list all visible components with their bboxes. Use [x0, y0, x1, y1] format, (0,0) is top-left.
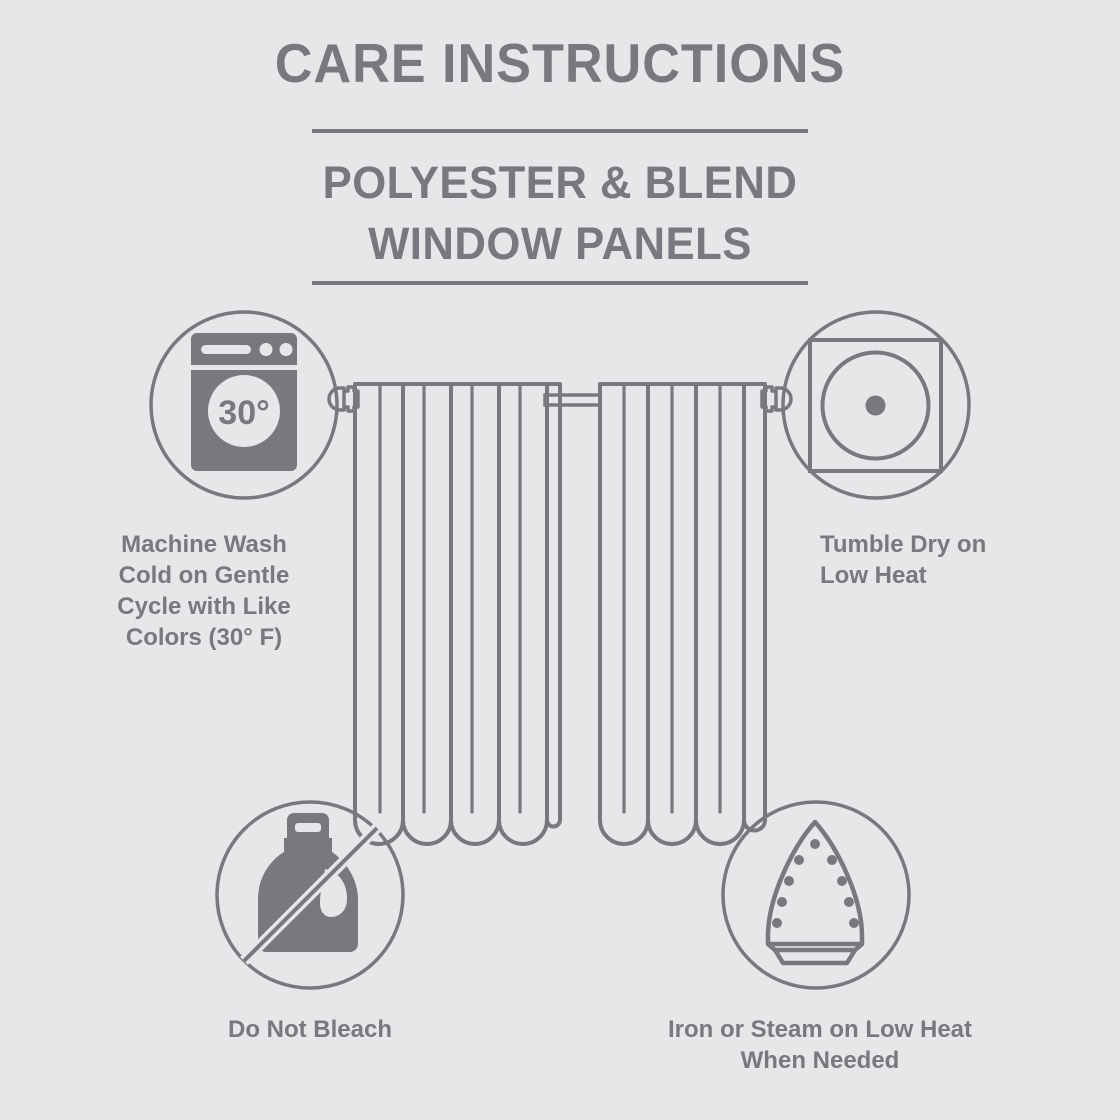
symbol-iron — [723, 802, 909, 988]
symbol-do-not-bleach — [217, 802, 403, 988]
badge-ring-iron — [723, 802, 909, 988]
caption-do-not-bleach: Do Not Bleach — [190, 1014, 430, 1045]
caption-machine-wash: Machine Wash Cold on Gentle Cycle with L… — [96, 529, 312, 653]
rod-bar — [545, 395, 600, 405]
divider-top — [312, 129, 808, 133]
tumble-dry-heat-dot — [866, 396, 886, 416]
iron-steam-holes — [772, 839, 859, 928]
caption-iron: Iron or Steam on Low Heat When Needed — [600, 1014, 1040, 1076]
washer-temp-label: 30° — [218, 394, 269, 432]
curtain-panel-right — [600, 384, 765, 844]
iron-icon — [768, 822, 862, 963]
divider-bottom — [312, 281, 808, 285]
symbol-machine-wash: 30° — [151, 312, 337, 498]
caption-tumble-dry: Tumble Dry on Low Heat — [820, 529, 1080, 591]
symbol-tumble-dry — [783, 312, 969, 498]
page-title: CARE INSTRUCTIONS — [28, 36, 1092, 91]
washing-machine-icon: 30° — [191, 333, 297, 471]
care-instructions-infographic: 30° — [0, 0, 1120, 1120]
page-subtitle: POLYESTER & BLEND WINDOW PANELS — [17, 152, 1103, 274]
curtain-panel-left — [355, 384, 560, 844]
